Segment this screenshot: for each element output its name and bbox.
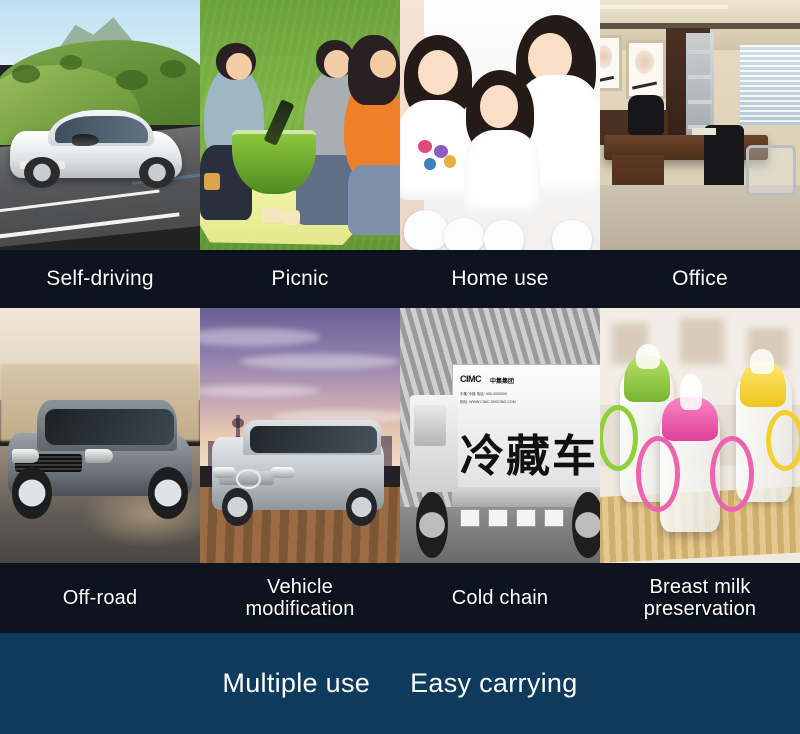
headlight-left (12, 449, 40, 462)
snack (282, 210, 300, 225)
wheel-front (24, 157, 60, 189)
wheel-front (222, 488, 253, 527)
background-blur (680, 318, 724, 364)
sock (404, 210, 448, 250)
photo-home-use (400, 0, 600, 250)
photo-row-1 (0, 0, 800, 250)
wheel-rear (139, 157, 175, 189)
photo-breast-milk (600, 308, 800, 563)
ceiling-light (600, 5, 728, 9)
bottom-banner: Multiple use Easy carrying (0, 633, 800, 734)
headlight (72, 134, 100, 146)
mercedes-star-icon (236, 469, 261, 489)
wheel-rear (148, 467, 188, 519)
person-right-legs (348, 165, 400, 235)
underrun-bar (460, 509, 480, 526)
truck-sub-line-2: 网址: WWW.CIMC-SHDONG.COM (460, 400, 516, 405)
car-windshield (55, 116, 148, 143)
truck-body-text: 冷藏车 (460, 420, 598, 484)
bush (116, 70, 148, 90)
cell-self-driving (0, 0, 200, 250)
wheel-rear (346, 488, 377, 527)
underrun-bar (516, 509, 536, 526)
cell-vehicle-modification (200, 308, 400, 563)
framed-art (626, 40, 666, 99)
shelf (688, 75, 712, 79)
caption-line-1: Breast milk (600, 576, 800, 598)
car-sedan (10, 110, 182, 185)
desk-papers (692, 128, 716, 136)
photo-office (600, 0, 800, 250)
bottle-pink-handle-left (636, 436, 680, 512)
wheel-rear (572, 492, 600, 558)
caption-off-road: Off-road (0, 587, 200, 609)
truck-sub-line-1: 中集·冷链 电话: 400-0000000 (460, 392, 507, 397)
headlight-right (85, 449, 113, 462)
cloud (240, 354, 400, 369)
shirt-flower (424, 158, 436, 171)
cell-off-road (0, 308, 200, 563)
shelf (688, 100, 712, 104)
caption-cold-chain: Cold chain (400, 587, 600, 609)
shirt-flower (444, 155, 456, 168)
suv-windshield (45, 409, 174, 445)
van (212, 420, 384, 522)
snack (262, 208, 282, 223)
sock (552, 220, 592, 250)
headlight-left (212, 467, 236, 478)
headlight-right (270, 467, 294, 478)
bush (12, 65, 40, 83)
shelf (688, 50, 712, 54)
bottle-green-nipple (636, 344, 660, 370)
caption-home-use: Home use (400, 267, 600, 291)
van-windows (250, 426, 377, 453)
photo-picnic (200, 0, 400, 250)
banner-item-multiple-use: Multiple use (222, 668, 370, 699)
caption-vehicle-modification: Vehicle modification (200, 576, 400, 621)
promo-sheet: Self-driving Picnic Home use Office (0, 0, 800, 729)
sock (484, 220, 524, 250)
executive-chair-back (628, 95, 664, 135)
caption-self-driving: Self-driving (0, 267, 200, 291)
cell-office (600, 0, 800, 250)
bush (160, 60, 186, 78)
car-suv (8, 400, 192, 512)
caption-band-row-2: Off-road Vehicle modification Cold chain… (0, 563, 800, 633)
photo-off-road (0, 308, 200, 563)
person-mid-face (324, 50, 350, 78)
cell-breast-milk (600, 308, 800, 563)
window-blind (740, 45, 800, 125)
person-right-face (370, 50, 396, 78)
photo-row-2: CIMC 中集集团 中集·冷链 电话: 400-0000000 网址: WWW.… (0, 308, 800, 563)
girl2-face (480, 85, 518, 128)
bush (60, 55, 82, 70)
underrun-bar (544, 509, 564, 526)
banner-item-easy-carrying: Easy carrying (410, 668, 577, 699)
caption-line-1: Vehicle (200, 576, 400, 598)
bottle-yellow-nipple (750, 349, 774, 375)
truck-logo-cn: 中集集团 (490, 376, 514, 385)
side-chair (746, 145, 796, 196)
truck-cab-window (414, 405, 446, 446)
bottle-green-handle (600, 405, 638, 471)
underrun-bar (488, 509, 508, 526)
photo-cold-chain: CIMC 中集集团 中集·冷链 电话: 400-0000000 网址: WWW.… (400, 308, 600, 563)
truck-logo: CIMC (460, 374, 481, 384)
bottle-pink-nipple (680, 374, 702, 410)
wheel-front (416, 492, 448, 558)
bottle-pink-handle-right (710, 436, 754, 512)
bottle-yellow-handle (766, 410, 800, 471)
photo-self-driving (0, 0, 200, 250)
caption-picnic: Picnic (200, 267, 400, 291)
glass (204, 173, 220, 191)
cell-home-use (400, 0, 600, 250)
sock (444, 218, 484, 251)
caption-office: Office (600, 267, 800, 291)
framed-art (600, 35, 622, 91)
wheel-front (12, 467, 52, 519)
person-left-face (226, 53, 252, 81)
caption-band-row-1: Self-driving Picnic Home use Office (0, 250, 800, 308)
girl2-torso (464, 130, 540, 215)
cell-cold-chain: CIMC 中集集团 中集·冷链 电话: 400-0000000 网址: WWW.… (400, 308, 600, 563)
caption-line-2: preservation (600, 598, 800, 620)
shirt-flower (418, 140, 432, 153)
photo-vehicle-modification (200, 308, 400, 563)
caption-line-2: modification (200, 598, 400, 620)
caption-breast-milk: Breast milk preservation (600, 576, 800, 621)
cell-picnic (200, 0, 400, 250)
girl1-face (418, 50, 458, 95)
